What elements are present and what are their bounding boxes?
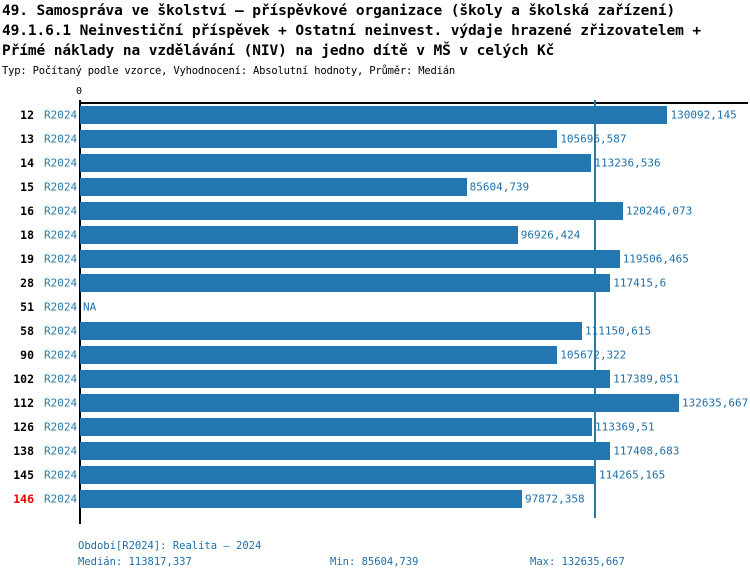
row-period-label: R2024 <box>44 253 77 266</box>
chart-subtitle: Typ: Počítaný podle vzorce, Vyhodnocení:… <box>2 64 750 78</box>
bar-value-label: 113369,51 <box>595 421 655 434</box>
row-id-label: 146 <box>0 492 34 506</box>
row-id-label: 51 <box>0 300 34 314</box>
row-period-label: R2024 <box>44 421 77 434</box>
bar-segment[interactable] <box>80 274 610 292</box>
row-id-label: 18 <box>0 228 34 242</box>
table-row[interactable]: 28R2024117415,6 <box>0 271 750 295</box>
row-period-label: R2024 <box>44 205 77 218</box>
bar-value-label: 113236,536 <box>594 157 660 170</box>
table-row[interactable]: 14R2024113236,536 <box>0 151 750 175</box>
bar-segment[interactable] <box>80 154 591 172</box>
row-period-label: R2024 <box>44 493 77 506</box>
table-row[interactable]: 145R2024114265,165 <box>0 463 750 487</box>
bar-value-label: 132635,667 <box>682 397 748 410</box>
row-id-label: 28 <box>0 276 34 290</box>
row-period-label: R2024 <box>44 397 77 410</box>
bar-value-label: 119506,465 <box>623 253 689 266</box>
table-row[interactable]: 102R2024117389,051 <box>0 367 750 391</box>
row-period-label: R2024 <box>44 277 77 290</box>
table-row[interactable]: 51R2024NA <box>0 295 750 319</box>
bar-value-label: 130092,145 <box>670 109 736 122</box>
row-id-label: 145 <box>0 468 34 482</box>
bar-segment[interactable] <box>80 130 557 148</box>
row-id-label: 12 <box>0 108 34 122</box>
axis-zero-tick-label: 0 <box>76 86 82 97</box>
table-row[interactable]: 90R2024105672,322 <box>0 343 750 367</box>
bar-segment[interactable] <box>80 322 582 340</box>
footer-max-label: Max: 132635,667 <box>530 556 625 568</box>
bar-value-label: 105696,587 <box>560 133 626 146</box>
bar-value-label: 105672,322 <box>560 349 626 362</box>
row-period-label: R2024 <box>44 469 77 482</box>
bar-segment[interactable] <box>80 106 667 124</box>
table-row[interactable]: 112R2024132635,667 <box>0 391 750 415</box>
page-title-line-1: 49. Samospráva ve školství – příspěvkové… <box>2 1 750 21</box>
row-period-label: R2024 <box>44 301 77 314</box>
bar-segment[interactable] <box>80 418 592 436</box>
row-id-label: 112 <box>0 396 34 410</box>
row-id-label: 13 <box>0 132 34 146</box>
bar-segment[interactable] <box>80 442 610 460</box>
bar-segment[interactable] <box>80 370 610 388</box>
bar-value-label: NA <box>83 301 96 314</box>
row-id-label: 15 <box>0 180 34 194</box>
row-period-label: R2024 <box>44 157 77 170</box>
bar-segment[interactable] <box>80 226 518 244</box>
table-row[interactable]: 13R2024105696,587 <box>0 127 750 151</box>
table-row[interactable]: 138R2024117408,683 <box>0 439 750 463</box>
bar-segment[interactable] <box>80 490 522 508</box>
bar-segment[interactable] <box>80 178 467 196</box>
table-row[interactable]: 146R202497872,358 <box>0 487 750 511</box>
chart-footer: Období[R2024]: Realita – 2024 Medián: 11… <box>0 536 750 576</box>
footer-min-label: Min: 85604,739 <box>330 556 419 568</box>
footer-stats-row: Medián: 113817,337 Min: 85604,739 Max: 1… <box>0 556 750 576</box>
row-period-label: R2024 <box>44 349 77 362</box>
bar-chart-plot-area: 0 12R2024130092,14513R2024105696,58714R2… <box>0 88 750 523</box>
chart-header: 49. Samospráva ve školství – příspěvkové… <box>0 0 750 78</box>
page-title-line-3: Přímé náklady na vzdělávání (NIV) na jed… <box>2 41 750 61</box>
page-title-line-2: 49.1.6.1 Neinvestiční příspěvek + Ostatn… <box>2 21 750 41</box>
row-period-label: R2024 <box>44 229 77 242</box>
row-period-label: R2024 <box>44 373 77 386</box>
table-row[interactable]: 58R2024111150,615 <box>0 319 750 343</box>
bar-segment[interactable] <box>80 466 596 484</box>
row-period-label: R2024 <box>44 181 77 194</box>
row-period-label: R2024 <box>44 445 77 458</box>
bar-segment[interactable] <box>80 202 623 220</box>
row-period-label: R2024 <box>44 325 77 338</box>
table-row[interactable]: 15R202485604,739 <box>0 175 750 199</box>
bar-segment[interactable] <box>80 250 620 268</box>
bar-segment[interactable] <box>80 346 557 364</box>
bar-segment[interactable] <box>80 394 679 412</box>
row-period-label: R2024 <box>44 133 77 146</box>
row-period-label: R2024 <box>44 109 77 122</box>
table-row[interactable]: 18R202496926,424 <box>0 223 750 247</box>
bar-value-label: 120246,073 <box>626 205 692 218</box>
row-id-label: 90 <box>0 348 34 362</box>
bar-value-label: 117415,6 <box>613 277 666 290</box>
bar-value-label: 111150,615 <box>585 325 651 338</box>
table-row[interactable]: 12R2024130092,145 <box>0 103 750 127</box>
footer-median-label: Medián: 113817,337 <box>78 556 192 568</box>
bar-value-label: 117389,051 <box>613 373 679 386</box>
table-row[interactable]: 16R2024120246,073 <box>0 199 750 223</box>
bar-value-label: 114265,165 <box>599 469 665 482</box>
row-id-label: 138 <box>0 444 34 458</box>
row-id-label: 16 <box>0 204 34 218</box>
table-row[interactable]: 126R2024113369,51 <box>0 415 750 439</box>
row-id-label: 126 <box>0 420 34 434</box>
row-id-label: 102 <box>0 372 34 386</box>
bar-value-label: 85604,739 <box>470 181 530 194</box>
row-id-label: 58 <box>0 324 34 338</box>
footer-period-note: Období[R2024]: Realita – 2024 <box>78 536 750 556</box>
bar-value-label: 117408,683 <box>613 445 679 458</box>
bar-value-label: 97872,358 <box>525 493 585 506</box>
row-id-label: 14 <box>0 156 34 170</box>
row-id-label: 19 <box>0 252 34 266</box>
bar-value-label: 96926,424 <box>521 229 581 242</box>
table-row[interactable]: 19R2024119506,465 <box>0 247 750 271</box>
